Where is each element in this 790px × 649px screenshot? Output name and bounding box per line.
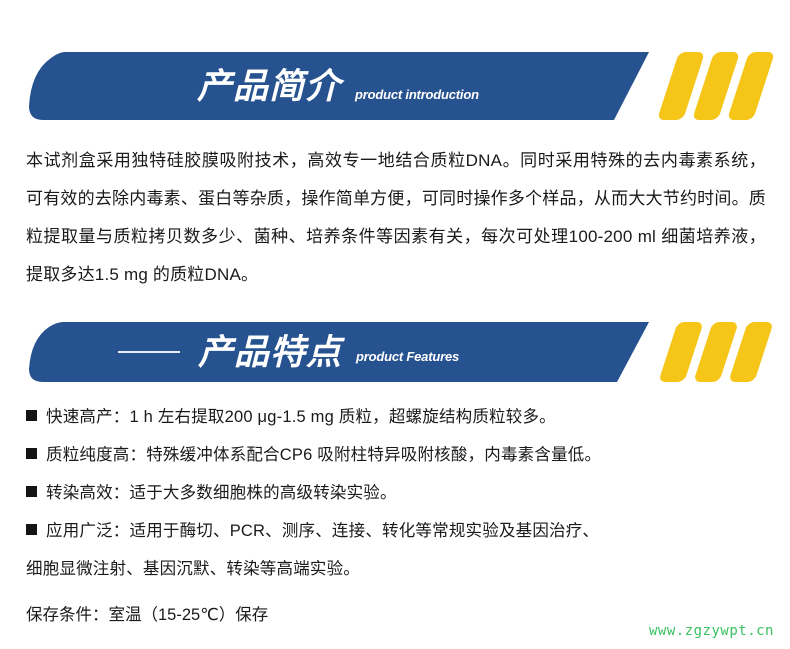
section-banner-product-introduction: 产品简介 product introduction <box>0 52 790 120</box>
feature-label: 质粒纯度高： <box>46 446 146 464</box>
square-bullet-icon <box>26 448 37 459</box>
section-title-en: product introduction <box>355 87 479 102</box>
feature-label: 转染高效： <box>46 484 130 502</box>
section-title-cn: 产品简介 <box>197 69 341 104</box>
product-features-list: 快速高产：1 h 左右提取200 μg-1.5 mg 质粒，超螺旋结构质粒较多。… <box>26 398 772 634</box>
square-bullet-icon <box>26 524 37 535</box>
feature-text: 特殊缓冲体系配合CP6 吸附柱特异吸附核酸，内毒素含量低。 <box>146 446 601 464</box>
feature-list-item: 质粒纯度高：特殊缓冲体系配合CP6 吸附柱特异吸附核酸，内毒素含量低。 <box>26 436 772 474</box>
section-banner-product-features: 产品特点 product Features <box>0 322 790 382</box>
product-detail-page: 产品简介 product introduction 本试剂盒采用独特硅胶膜吸附技… <box>0 0 790 649</box>
feature-list-item-continuation: 细胞显微注射、基因沉默、转染等高端实验。 <box>26 550 772 588</box>
feature-label: 快速高产： <box>46 408 130 426</box>
square-bullet-icon <box>26 410 37 421</box>
banner-title-group: 产品简介 product introduction <box>197 52 479 120</box>
feature-text: 适于大多数细胞株的高级转染实验。 <box>130 484 397 502</box>
site-watermark: www.zgzywpt.cn <box>649 623 774 639</box>
banner-accent-stripes <box>668 52 764 120</box>
title-rule-decoration <box>118 351 180 353</box>
banner-title-group: 产品特点 product Features <box>118 322 459 382</box>
feature-text: 适用于酶切、PCR、测序、连接、转化等常规实验及基因治疗、 <box>130 522 600 540</box>
feature-list-item: 应用广泛：适用于酶切、PCR、测序、连接、转化等常规实验及基因治疗、 <box>26 512 772 550</box>
feature-label: 应用广泛： <box>46 522 130 540</box>
square-bullet-icon <box>26 486 37 497</box>
banner-accent-stripes <box>668 322 764 382</box>
product-introduction-paragraph: 本试剂盒采用独特硅胶膜吸附技术，高效专一地结合质粒DNA。同时采用特殊的去内毒素… <box>26 142 766 294</box>
feature-list-item: 快速高产：1 h 左右提取200 μg-1.5 mg 质粒，超螺旋结构质粒较多。 <box>26 398 772 436</box>
feature-text: 1 h 左右提取200 μg-1.5 mg 质粒，超螺旋结构质粒较多。 <box>130 408 556 426</box>
section-title-en: product Features <box>356 349 459 364</box>
feature-list-item: 转染高效：适于大多数细胞株的高级转染实验。 <box>26 474 772 512</box>
section-title-cn: 产品特点 <box>198 335 342 370</box>
